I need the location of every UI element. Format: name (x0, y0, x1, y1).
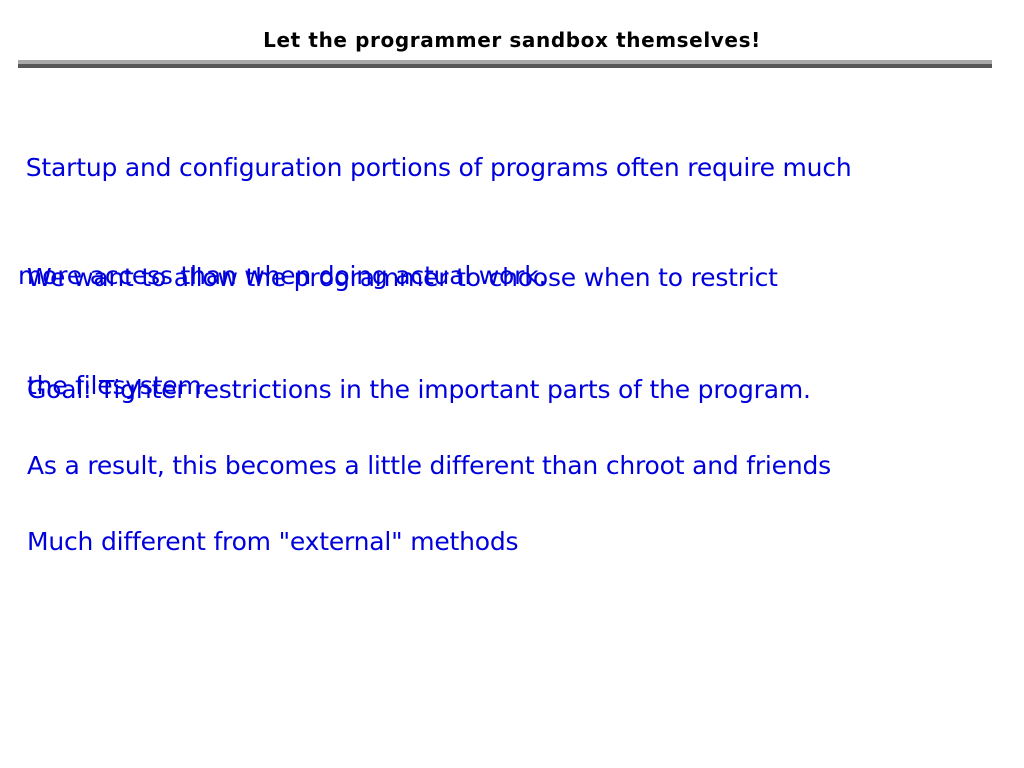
slide-title: Let the programmer sandbox themselves! (0, 28, 1024, 52)
paragraph-line: Much different from "external" methods (27, 524, 518, 560)
presentation-slide: Let the programmer sandbox themselves! S… (0, 0, 1024, 768)
paragraph-line: We want to allow the programmer to choos… (27, 260, 778, 296)
paragraph-line: Startup and configuration portions of pr… (18, 150, 852, 186)
paragraph-external-methods: Much different from "external" methods (27, 452, 518, 632)
divider-dark-band (18, 64, 992, 68)
title-divider (18, 60, 992, 68)
